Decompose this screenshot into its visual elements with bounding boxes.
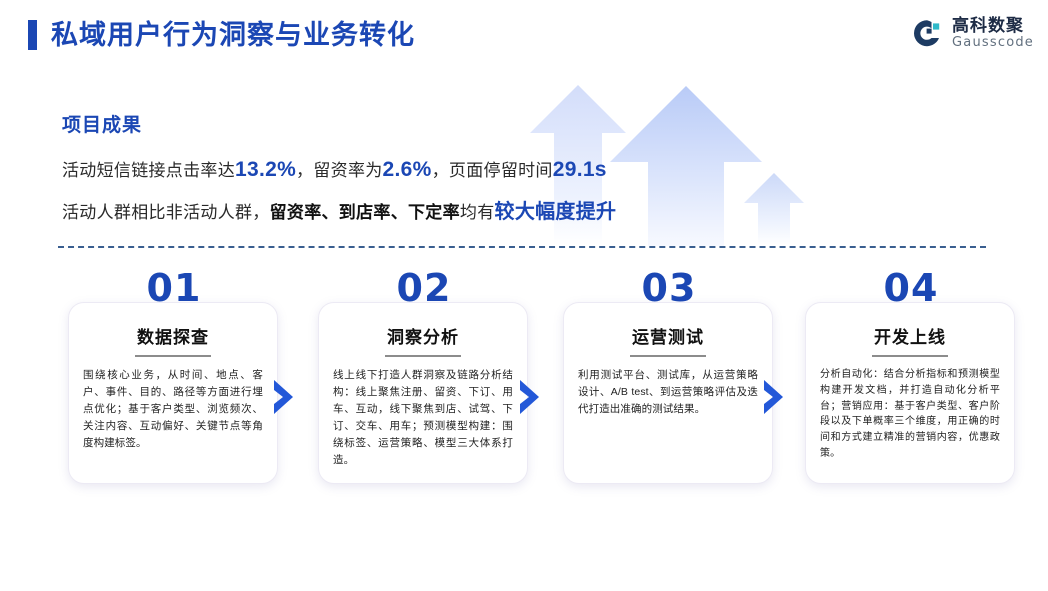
brand-logo-text: 高科数聚 Gausscode: [952, 17, 1034, 50]
step-body-4: 分析自动化：结合分析指标和预测模型构建开发文档，并打造自动化分析平台；营销应用：…: [820, 367, 1000, 462]
step-title-1: 数据探查: [83, 329, 263, 346]
results-line1-seg2: ，留资率为: [296, 161, 383, 180]
chevron-right-icon-1: [272, 380, 298, 414]
step-body-1: 围绕核心业务，从时间、地点、客户、事件、目的、路径等方面进行埋点优化；基于客户类…: [83, 367, 263, 452]
title-accent-bar: [28, 20, 37, 50]
results-line2-highlight: 较大幅度提升: [495, 201, 617, 223]
step-number-4: 04: [806, 269, 1016, 307]
step-number-3: 03: [564, 269, 774, 307]
results-line1-seg1: 活动短信链接点击率达: [62, 161, 235, 180]
results-line1-seg3: ，页面停留时间: [432, 161, 553, 180]
results-stat-dwelltime: 29.1s: [553, 158, 607, 181]
brand-logo: 高科数聚 Gausscode: [911, 17, 1034, 51]
brand-name-en: Gausscode: [952, 35, 1034, 51]
chevron-right-icon-2: [518, 380, 544, 414]
step-title-3: 运营测试: [578, 329, 758, 346]
results-line2-seg1: 活动人群相比非活动人群，: [62, 203, 270, 222]
project-results-section: 项目成果 活动短信链接点击率达13.2%，留资率为2.6%，页面停留时间29.1…: [62, 110, 762, 244]
page-title: 私域用户行为洞察与业务转化: [28, 20, 415, 50]
step-body-3: 利用测试平台、测试库，从运营策略设计、A/B test、到运营策略评估及迭代打造…: [578, 367, 758, 418]
brand-name-cn: 高科数聚: [952, 17, 1034, 35]
step-card-1[interactable]: 01 数据探查 围绕核心业务，从时间、地点、客户、事件、目的、路径等方面进行埋点…: [68, 302, 278, 484]
step-title-4: 开发上线: [820, 329, 1000, 346]
title-text: 私域用户行为洞察与业务转化: [51, 22, 415, 49]
step-rule-2: [385, 355, 461, 357]
process-steps: 01 数据探查 围绕核心业务，从时间、地点、客户、事件、目的、路径等方面进行埋点…: [0, 268, 1048, 528]
slide-header: 私域用户行为洞察与业务转化 高科数聚 Gausscode: [0, 0, 1048, 78]
chevron-right-icon-3: [762, 380, 788, 414]
results-heading: 项目成果: [62, 110, 762, 137]
step-rule-3: [630, 355, 706, 357]
step-card-3[interactable]: 03 运营测试 利用测试平台、测试库，从运营策略设计、A/B test、到运营策…: [563, 302, 773, 484]
gausscode-g-logo-icon: [911, 17, 945, 51]
step-rule-4: [872, 355, 948, 357]
step-card-2[interactable]: 02 洞察分析 线上线下打造人群洞察及链路分析结构：线上聚焦注册、留资、下订、用…: [318, 302, 528, 484]
results-line2-bold: 留资率、到店率、下定率: [270, 203, 460, 222]
results-stat-ctr: 13.2%: [235, 158, 296, 181]
step-title-2: 洞察分析: [333, 329, 513, 346]
results-line-2: 活动人群相比非活动人群，留资率、到店率、下定率均有较大幅度提升: [62, 202, 762, 222]
step-rule-1: [135, 355, 211, 357]
dashed-divider: [58, 246, 986, 248]
step-number-1: 01: [69, 269, 279, 307]
step-number-2: 02: [319, 269, 529, 307]
results-line2-seg2: 均有: [460, 203, 495, 222]
step-body-2: 线上线下打造人群洞察及链路分析结构：线上聚焦注册、留资、下订、用车、互动，线下聚…: [333, 367, 513, 469]
results-stat-leadrate: 2.6%: [383, 158, 432, 181]
step-card-4[interactable]: 04 开发上线 分析自动化：结合分析指标和预测模型构建开发文档，并打造自动化分析…: [805, 302, 1015, 484]
results-line-1: 活动短信链接点击率达13.2%，留资率为2.6%，页面停留时间29.1s: [62, 159, 762, 180]
slide-root: 私域用户行为洞察与业务转化 高科数聚 Gausscode 项目成果 活动短信链接…: [0, 0, 1048, 591]
